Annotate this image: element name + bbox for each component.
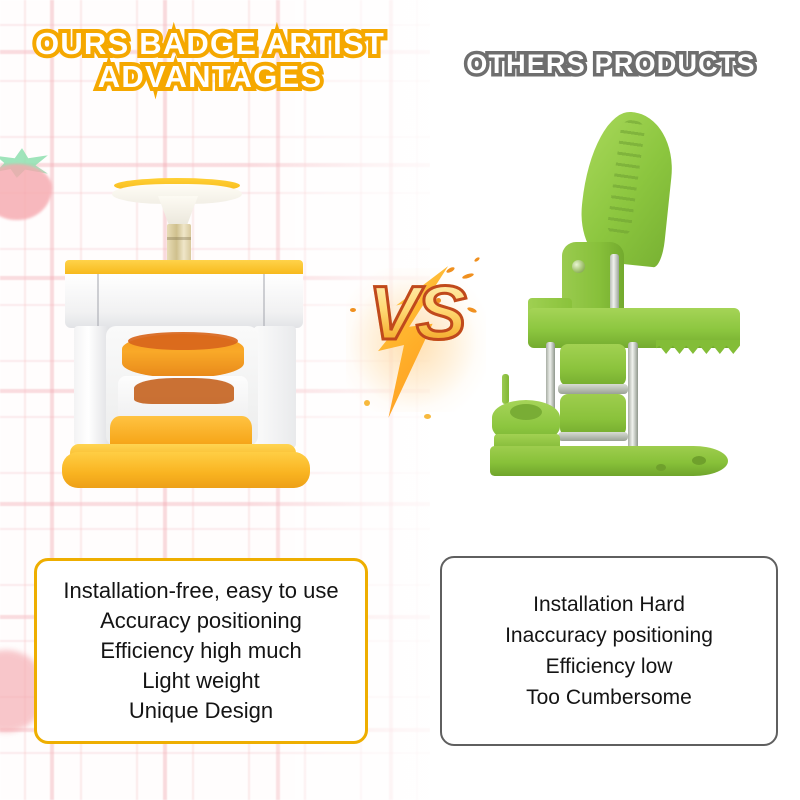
spark-particle (364, 400, 370, 406)
spark-particle (424, 414, 431, 419)
others-heading: OTHERS PRODUCTS (436, 50, 786, 78)
product-image-others (486, 112, 742, 482)
base-bolt-hole-2 (656, 464, 666, 471)
ours-heading-line2: ADVANTAGES (6, 61, 414, 94)
right-leg (254, 326, 296, 448)
strawberry-body-icon (0, 164, 52, 220)
feature-item: Too Cumbersome (526, 682, 692, 713)
upper-die-face (128, 332, 238, 350)
feature-item: Efficiency high much (100, 636, 301, 666)
feature-item: Installation-free, easy to use (63, 576, 338, 606)
machine-body (65, 274, 303, 328)
base-bolt-hole-1 (692, 456, 706, 465)
comparison-poster: OURS BADGE ARTIST ADVANTAGES OTHERS PROD… (0, 0, 800, 800)
feature-item: Inaccuracy positioning (505, 620, 713, 651)
spark-particle (474, 257, 481, 263)
mould-cup-hole (510, 404, 542, 420)
versus-label: VS (336, 276, 496, 352)
left-leg (74, 326, 110, 446)
die-ring-upper (558, 384, 628, 394)
hinge-bolt (572, 260, 585, 273)
feature-item: Efficiency low (546, 651, 673, 682)
lower-die-green (560, 394, 626, 436)
versus-badge: VS (336, 250, 496, 430)
ours-heading: OURS BADGE ARTIST ADVANTAGES (6, 28, 414, 93)
mould-pin (502, 374, 509, 404)
ours-heading-line1: OURS BADGE ARTIST (35, 26, 385, 61)
feature-item: Accuracy positioning (100, 606, 302, 636)
die-ring-lower (558, 432, 628, 441)
strawberry-icon (0, 146, 58, 220)
product-image-ours (62, 168, 352, 498)
press-shaft (167, 224, 191, 262)
ours-feature-box: Installation-free, easy to use Accuracy … (34, 558, 368, 744)
middle-die-face (134, 378, 234, 404)
base-tray (62, 452, 310, 488)
feature-item: Installation Hard (533, 589, 685, 620)
feature-item: Light weight (142, 666, 259, 696)
others-feature-box: Installation Hard Inaccuracy positioning… (440, 556, 778, 746)
feature-item: Unique Design (129, 696, 273, 726)
upper-die-green (560, 344, 626, 386)
hinge-rod (610, 254, 619, 316)
